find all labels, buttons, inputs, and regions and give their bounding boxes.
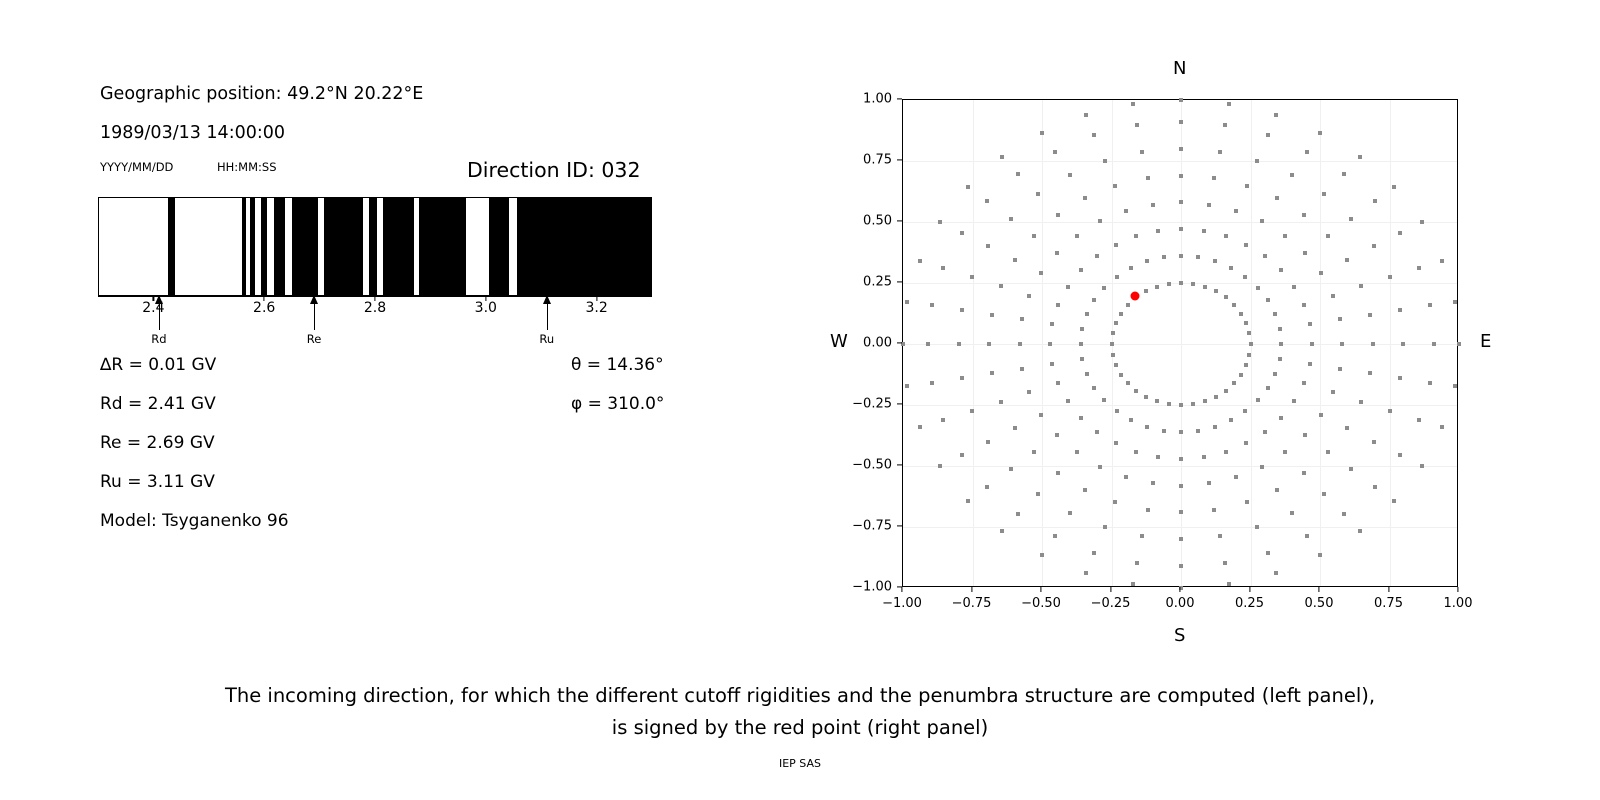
penumbra-forbidden-band <box>250 198 256 295</box>
sky-grid-point <box>1131 582 1135 586</box>
sky-grid-point <box>957 342 961 346</box>
direction-id-label: Direction ID: 032 <box>467 158 641 182</box>
sky-xtick-label: 0.25 <box>1235 596 1264 611</box>
sky-grid-point <box>987 342 991 346</box>
sky-grid-point <box>1273 312 1277 316</box>
sky-grid-point <box>1103 525 1107 529</box>
penumbra-spectrum-bar <box>98 197 652 296</box>
sky-grid-point <box>1318 131 1322 135</box>
sky-grid-point <box>1020 367 1024 371</box>
sky-grid-point <box>970 275 974 279</box>
sky-grid-point <box>1167 282 1171 286</box>
sky-grid-point <box>926 342 930 346</box>
sky-grid-point <box>960 453 964 457</box>
sky-grid-point <box>1040 131 1044 135</box>
sky-grid-point <box>1202 229 1206 233</box>
sky-xtick-label: 1.00 <box>1444 596 1473 611</box>
penumbra-forbidden-band <box>324 198 362 295</box>
sky-grid-point <box>1368 371 1372 375</box>
sky-ytick-mark <box>897 403 902 404</box>
sky-grid-point <box>1092 298 1096 302</box>
sky-grid-point <box>1440 425 1444 429</box>
sky-grid-point <box>1179 537 1183 541</box>
sky-grid-point <box>1398 308 1402 312</box>
sky-grid-point <box>1040 553 1044 557</box>
rigidity-tick-label: 2.8 <box>364 300 386 316</box>
sky-grid-point <box>1098 465 1102 469</box>
sky-grid-point <box>1358 529 1362 533</box>
sky-xtick-mark <box>1388 587 1389 592</box>
rigidity-tick-label: 3.2 <box>585 300 607 316</box>
sky-grid-point <box>990 313 994 317</box>
sky-ytick-mark <box>897 281 902 282</box>
sky-grid-point <box>1283 234 1287 238</box>
sky-grid-point <box>1266 133 1270 137</box>
sky-grid-point <box>1213 425 1217 429</box>
sky-grid-point <box>960 376 964 380</box>
sky-grid-point <box>1140 534 1144 538</box>
date-format-hint: YYYY/MM/DD <box>100 160 173 174</box>
rigidity-axis: 2.42.62.83.03.2RdReRu <box>98 296 652 298</box>
sky-ytick-mark <box>897 342 902 343</box>
sky-grid-point <box>1308 322 1312 326</box>
sky-grid-point <box>1340 342 1344 346</box>
sky-grid-point <box>1155 285 1159 289</box>
sky-grid-point <box>1146 508 1150 512</box>
sky-grid-point <box>1331 294 1335 298</box>
sky-grid-point <box>985 485 989 489</box>
parameter-left-3: Ru = 3.11 GV <box>100 472 215 492</box>
sky-grid-point <box>1144 289 1148 293</box>
sky-grid-point <box>1039 413 1043 417</box>
sky-grid-point <box>1349 467 1353 471</box>
sky-grid-point <box>1079 268 1083 272</box>
sky-grid-point <box>1167 402 1171 406</box>
sky-grid-point <box>1266 551 1270 555</box>
sky-grid-point <box>1223 123 1227 127</box>
sky-grid-point <box>1243 275 1247 279</box>
sky-grid-point <box>1249 342 1253 346</box>
sky-grid-point <box>1302 213 1306 217</box>
sky-grid-point <box>1247 353 1251 357</box>
sky-grid-point <box>1255 159 1259 163</box>
sky-xtick-mark <box>971 587 972 592</box>
sky-grid-point <box>1092 386 1096 390</box>
sky-grid-point <box>1036 492 1040 496</box>
gridline-horizontal <box>903 527 1457 528</box>
sky-grid-point <box>1016 512 1020 516</box>
parameter-right-1: φ = 310.0° <box>571 394 664 414</box>
sky-grid-point <box>1092 133 1096 137</box>
sky-map-plot-area <box>902 99 1458 587</box>
sky-grid-point <box>1083 488 1087 492</box>
sky-grid-point <box>1179 147 1183 151</box>
sky-grid-point <box>1009 217 1013 221</box>
datetime-label: 1989/03/13 14:00:00 <box>100 123 285 143</box>
sky-grid-point <box>1274 113 1278 117</box>
sky-grid-point <box>1279 342 1283 346</box>
sky-grid-point <box>1398 231 1402 235</box>
sky-grid-point <box>1302 381 1306 385</box>
sky-grid-point <box>1050 322 1054 326</box>
sky-grid-point <box>1179 174 1183 178</box>
sky-grid-point <box>1326 450 1330 454</box>
sky-grid-point <box>1134 234 1138 238</box>
cutoff-marker-arrow-rd <box>159 296 160 330</box>
sky-grid-point <box>1283 450 1287 454</box>
sky-grid-point <box>1056 213 1060 217</box>
sky-grid-point <box>1202 455 1206 459</box>
sky-grid-point <box>1432 342 1436 346</box>
cutoff-marker-label-ru: Ru <box>539 332 554 346</box>
sky-grid-point <box>1227 102 1231 106</box>
sky-grid-point <box>1256 286 1260 290</box>
sky-grid-point <box>1179 120 1183 124</box>
sky-grid-point <box>1000 155 1004 159</box>
sky-xtick-label: 0.75 <box>1374 596 1403 611</box>
sky-grid-point <box>1266 298 1270 302</box>
sky-grid-point <box>1318 553 1322 557</box>
sky-grid-point <box>1420 220 1424 224</box>
sky-grid-point <box>1207 203 1211 207</box>
sky-grid-point <box>930 381 934 385</box>
sky-grid-point <box>1079 416 1083 420</box>
sky-xtick-mark <box>1249 587 1250 592</box>
sky-grid-point <box>1214 289 1218 293</box>
sky-grid-point <box>1191 402 1195 406</box>
gridline-vertical <box>1042 100 1043 586</box>
sky-grid-point <box>1338 367 1342 371</box>
sky-grid-point <box>1212 508 1216 512</box>
sky-xtick-label: −1.00 <box>882 596 922 611</box>
gridline-vertical <box>1320 100 1321 586</box>
sky-grid-point <box>1080 327 1084 331</box>
sky-grid-point <box>1338 317 1342 321</box>
sky-ytick-label: −0.75 <box>830 519 892 534</box>
sky-grid-point <box>1080 357 1084 361</box>
sky-ytick-label: −1.00 <box>830 580 892 595</box>
penumbra-forbidden-band <box>419 198 466 295</box>
sky-xtick-mark <box>1457 587 1458 592</box>
sky-grid-point <box>990 371 994 375</box>
penumbra-forbidden-band <box>261 198 268 295</box>
sky-grid-point <box>1388 409 1392 413</box>
sky-grid-point <box>1085 312 1089 316</box>
sky-ytick-label: 1.00 <box>830 92 892 107</box>
sky-ytick-mark <box>897 464 902 465</box>
sky-grid-point <box>1232 381 1236 385</box>
sky-grid-point <box>1068 173 1072 177</box>
sky-grid-point <box>1009 467 1013 471</box>
sky-xtick-label: 0.00 <box>1166 596 1195 611</box>
sky-grid-point <box>1420 464 1424 468</box>
sky-grid-point <box>1151 203 1155 207</box>
sky-grid-point <box>1244 321 1248 325</box>
sky-grid-point <box>1302 303 1306 307</box>
sky-grid-point <box>1053 534 1057 538</box>
sky-xtick-mark <box>1040 587 1041 592</box>
sky-grid-point <box>1218 150 1222 154</box>
rigidity-tick-label: 2.6 <box>253 300 275 316</box>
sky-ytick-label: 0.75 <box>830 153 892 168</box>
sky-grid-point <box>1207 481 1211 485</box>
sky-grid-point <box>1457 342 1461 346</box>
penumbra-forbidden-band <box>242 198 246 295</box>
sky-grid-point <box>1013 258 1017 262</box>
sky-grid-point <box>960 231 964 235</box>
sky-grid-point <box>1229 266 1233 270</box>
parameter-left-1: Rd = 2.41 GV <box>100 394 216 414</box>
sky-grid-point <box>1134 389 1138 393</box>
penumbra-forbidden-band <box>292 198 319 295</box>
sky-grid-point <box>999 284 1003 288</box>
sky-grid-point <box>1075 450 1079 454</box>
sky-grid-point <box>1075 234 1079 238</box>
sky-grid-point <box>1203 285 1207 289</box>
sky-xtick-label: −0.25 <box>1091 596 1131 611</box>
sky-grid-point <box>1102 286 1106 290</box>
sky-grid-point <box>1013 426 1017 430</box>
sky-grid-point <box>1260 219 1264 223</box>
sky-grid-point <box>1263 254 1267 258</box>
sky-grid-point <box>1016 172 1020 176</box>
sky-grid-point <box>1368 313 1372 317</box>
sky-grid-point <box>1218 534 1222 538</box>
sky-grid-point <box>1308 362 1312 366</box>
sky-grid-point <box>1098 219 1102 223</box>
sky-grid-point <box>1115 409 1119 413</box>
sky-grid-point <box>1345 426 1349 430</box>
sky-grid-point <box>1134 450 1138 454</box>
sky-grid-point <box>1053 150 1057 154</box>
sky-grid-point <box>1056 303 1060 307</box>
compass-label-east: E <box>1480 331 1491 352</box>
sky-grid-point <box>941 418 945 422</box>
sky-grid-point <box>1179 430 1183 434</box>
sky-ytick-mark <box>897 220 902 221</box>
sky-grid-point <box>1095 430 1099 434</box>
sky-grid-point <box>1124 209 1128 213</box>
compass-label-north: N <box>1173 58 1186 79</box>
sky-grid-point <box>1245 184 1249 188</box>
sky-grid-point <box>1243 409 1247 413</box>
sky-xtick-label: −0.75 <box>952 596 992 611</box>
sky-grid-point <box>1322 492 1326 496</box>
sky-grid-point <box>1239 312 1243 316</box>
rigidity-tick-label: 3.0 <box>475 300 497 316</box>
sky-xtick-mark <box>1179 587 1180 592</box>
sky-grid-point <box>1244 363 1248 367</box>
penumbra-panel: Geographic position: 49.2°N 20.22°E 1989… <box>0 0 800 660</box>
sky-grid-point <box>1319 271 1323 275</box>
sky-grid-point <box>1050 362 1054 366</box>
sky-grid-point <box>1256 398 1260 402</box>
sky-grid-point <box>1129 418 1133 422</box>
sky-grid-point <box>1292 285 1296 289</box>
caption-line-1: The incoming direction, for which the di… <box>0 680 1600 712</box>
sky-grid-point <box>1359 284 1363 288</box>
sky-grid-point <box>1239 373 1243 377</box>
sky-grid-point <box>1179 484 1183 488</box>
sky-grid-point <box>938 464 942 468</box>
sky-grid-point <box>1066 285 1070 289</box>
sky-grid-point <box>1302 471 1306 475</box>
sky-grid-point <box>1103 159 1107 163</box>
sky-ytick-mark <box>897 98 902 99</box>
sky-grid-point <box>938 220 942 224</box>
sky-grid-point <box>1145 259 1149 263</box>
sky-grid-point <box>1310 342 1314 346</box>
sky-grid-point <box>1079 342 1083 346</box>
sky-map-panel: −1.00−0.75−0.50−0.250.000.250.500.751.00… <box>800 0 1600 660</box>
cutoff-marker-arrow-ru <box>547 296 548 330</box>
sky-grid-point <box>1124 475 1128 479</box>
sky-grid-point <box>1260 465 1264 469</box>
sky-ytick-label: 0.25 <box>830 275 892 290</box>
sky-grid-point <box>1162 255 1166 259</box>
sky-grid-point <box>1191 282 1195 286</box>
sky-grid-point <box>1274 571 1278 575</box>
penumbra-forbidden-band <box>517 198 652 295</box>
sky-grid-point <box>1290 173 1294 177</box>
sky-grid-point <box>1196 255 1200 259</box>
sky-grid-point <box>1146 176 1150 180</box>
sky-grid-point <box>1145 425 1149 429</box>
parameter-left-0: ∆R = 0.01 GV <box>100 355 216 375</box>
sky-grid-point <box>1453 384 1457 388</box>
sky-grid-point <box>1428 303 1432 307</box>
sky-grid-point <box>1144 395 1148 399</box>
sky-grid-point <box>1255 525 1259 529</box>
sky-grid-point <box>985 199 989 203</box>
sky-grid-point <box>960 308 964 312</box>
sky-grid-point <box>1085 372 1089 376</box>
sky-grid-point <box>1388 275 1392 279</box>
sky-grid-point <box>1331 390 1335 394</box>
sky-grid-point <box>1066 399 1070 403</box>
sky-ytick-label: −0.25 <box>830 397 892 412</box>
penumbra-forbidden-band <box>369 198 377 295</box>
sky-grid-point <box>1279 268 1283 272</box>
sky-grid-point <box>1162 429 1166 433</box>
sky-grid-point <box>1055 251 1059 255</box>
sky-grid-point <box>1179 457 1183 461</box>
sky-grid-point <box>1440 259 1444 263</box>
sky-grid-point <box>1114 243 1118 247</box>
sky-grid-point <box>999 400 1003 404</box>
sky-grid-point <box>1055 433 1059 437</box>
sky-grid-point <box>1232 303 1236 307</box>
sky-grid-point <box>1305 150 1309 154</box>
parameter-left-4: Model: Tsyganenko 96 <box>100 511 289 531</box>
sky-grid-point <box>1179 227 1183 231</box>
penumbra-forbidden-band <box>383 198 414 295</box>
sky-grid-point <box>1401 342 1405 346</box>
sky-grid-point <box>1224 389 1228 393</box>
sky-grid-point <box>1372 440 1376 444</box>
sky-grid-point <box>1345 258 1349 262</box>
sky-grid-point <box>1000 529 1004 533</box>
sky-grid-point <box>1223 561 1227 565</box>
sky-grid-point <box>1214 395 1218 399</box>
sky-grid-point <box>1278 327 1282 331</box>
sky-grid-point <box>1398 453 1402 457</box>
sky-grid-point <box>1303 433 1307 437</box>
sky-grid-point <box>986 244 990 248</box>
sky-grid-point <box>1275 488 1279 492</box>
gridline-horizontal <box>903 161 1457 162</box>
sky-grid-point <box>1179 510 1183 514</box>
sky-grid-point <box>905 384 909 388</box>
sky-grid-point <box>970 409 974 413</box>
sky-grid-point <box>1244 441 1248 445</box>
sky-grid-point <box>1111 331 1115 335</box>
selected-direction-marker[interactable] <box>1131 292 1140 301</box>
sky-grid-point <box>918 259 922 263</box>
sky-grid-point <box>1349 217 1353 221</box>
sky-grid-point <box>1155 399 1159 403</box>
cutoff-marker-label-rd: Rd <box>151 332 166 346</box>
sky-grid-point <box>1290 511 1294 515</box>
sky-grid-point <box>1084 571 1088 575</box>
sky-grid-point <box>1273 372 1277 376</box>
sky-grid-point <box>1068 511 1072 515</box>
sky-grid-point <box>1196 429 1200 433</box>
sky-grid-point <box>1119 312 1123 316</box>
sky-grid-point <box>1212 176 1216 180</box>
sky-grid-point <box>1371 342 1375 346</box>
sky-grid-point <box>1056 381 1060 385</box>
sky-grid-point <box>1398 376 1402 380</box>
parameter-left-2: Re = 2.69 GV <box>100 433 215 453</box>
sky-grid-point <box>1342 172 1346 176</box>
sky-grid-point <box>1224 234 1228 238</box>
sky-grid-point <box>1234 475 1238 479</box>
sky-grid-point <box>1113 184 1117 188</box>
sky-grid-point <box>1279 416 1283 420</box>
sky-grid-point <box>1131 102 1135 106</box>
sky-ytick-mark <box>897 159 902 160</box>
sky-grid-point <box>1083 196 1087 200</box>
sky-grid-point <box>1056 471 1060 475</box>
sky-grid-point <box>1319 413 1323 417</box>
sky-grid-point <box>1119 373 1123 377</box>
geographic-position-label: Geographic position: 49.2°N 20.22°E <box>100 84 423 104</box>
sky-grid-point <box>1227 582 1231 586</box>
gridline-horizontal <box>903 222 1457 223</box>
sky-grid-point <box>1213 259 1217 263</box>
figure-caption: The incoming direction, for which the di… <box>0 680 1600 744</box>
sky-ytick-label: 0.50 <box>830 214 892 229</box>
sky-grid-point <box>1305 534 1309 538</box>
sky-grid-point <box>1372 244 1376 248</box>
sky-grid-point <box>1140 150 1144 154</box>
sky-grid-point <box>1113 500 1117 504</box>
sky-grid-point <box>1114 441 1118 445</box>
sky-grid-point <box>1179 403 1183 407</box>
sky-grid-point <box>1266 386 1270 390</box>
sky-grid-point <box>1135 561 1139 565</box>
sky-grid-point <box>1245 500 1249 504</box>
cutoff-marker-label-re: Re <box>307 332 322 346</box>
gridline-horizontal <box>903 466 1457 467</box>
penumbra-forbidden-band <box>274 198 285 295</box>
sky-grid-point <box>1179 254 1183 258</box>
sky-ytick-mark <box>897 525 902 526</box>
sky-grid-point <box>1115 275 1119 279</box>
sky-grid-point <box>1359 400 1363 404</box>
sky-grid-point <box>1263 430 1267 434</box>
